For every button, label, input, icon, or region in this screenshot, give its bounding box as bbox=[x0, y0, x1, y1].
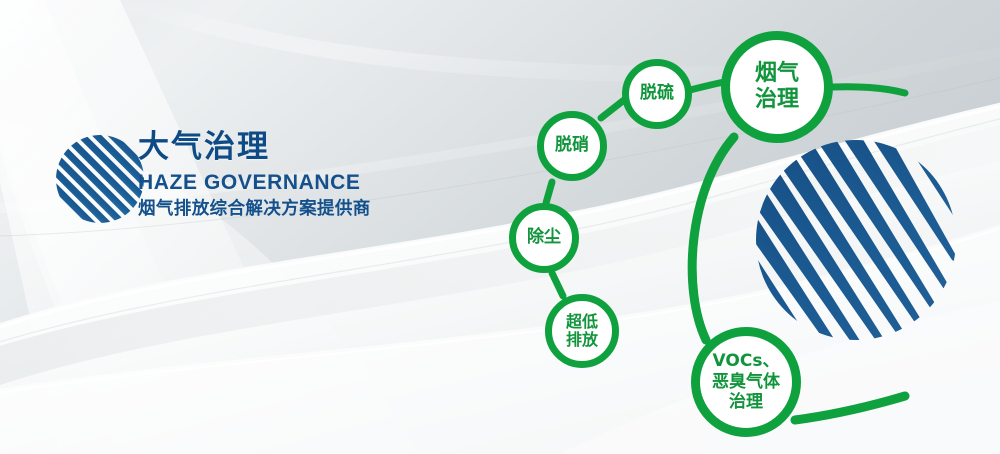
flow-node-chuchen[interactable]: 除尘 bbox=[509, 203, 579, 273]
flow-node-label: 除尘 bbox=[527, 228, 561, 247]
flow-node-label-line2: 治理 bbox=[755, 87, 799, 113]
flow-node-label: 脱硝 bbox=[555, 136, 589, 155]
flow-node-label-group: 烟气 治理 bbox=[755, 61, 799, 114]
headline-block: 大气治理 HAZE GOVERNANCE 烟气排放综合解决方案提供商 bbox=[138, 129, 468, 221]
diagonal-stripes-circle-icon bbox=[52, 131, 148, 227]
flow-node-label: 脱硫 bbox=[640, 84, 674, 103]
flow-node-label-line1: 超低 bbox=[566, 313, 598, 331]
flow-node-yanqizhili[interactable]: 烟气 治理 bbox=[721, 31, 833, 143]
flow-node-label-group: 超低 排放 bbox=[566, 313, 598, 349]
flow-node-vocs[interactable]: VOCs、 恶臭气体 治理 bbox=[691, 327, 801, 437]
flow-node-label-line1: VOCs、 bbox=[712, 351, 780, 372]
flow-node-label-line1: 烟气 bbox=[755, 61, 799, 87]
page-tagline: 烟气排放综合解决方案提供商 bbox=[138, 199, 468, 221]
flow-node-label-line3: 治理 bbox=[712, 392, 780, 413]
flow-node-label-group: VOCs、 恶臭气体 治理 bbox=[712, 351, 780, 413]
background-artwork bbox=[0, 0, 1000, 454]
banner-root: 大气治理 HAZE GOVERNANCE 烟气排放综合解决方案提供商 bbox=[0, 0, 1000, 454]
flow-node-tuoxiao[interactable]: 脱硝 bbox=[537, 111, 607, 181]
flow-node-tuoliu[interactable]: 脱硫 bbox=[622, 59, 692, 129]
flow-node-label-line2: 排放 bbox=[566, 331, 598, 349]
flow-node-chaodipaifang[interactable]: 超低 排放 bbox=[545, 294, 619, 368]
page-title-english: HAZE GOVERNANCE bbox=[138, 170, 468, 196]
flow-node-label-line2: 恶臭气体 bbox=[712, 372, 780, 393]
page-title: 大气治理 bbox=[138, 129, 468, 166]
